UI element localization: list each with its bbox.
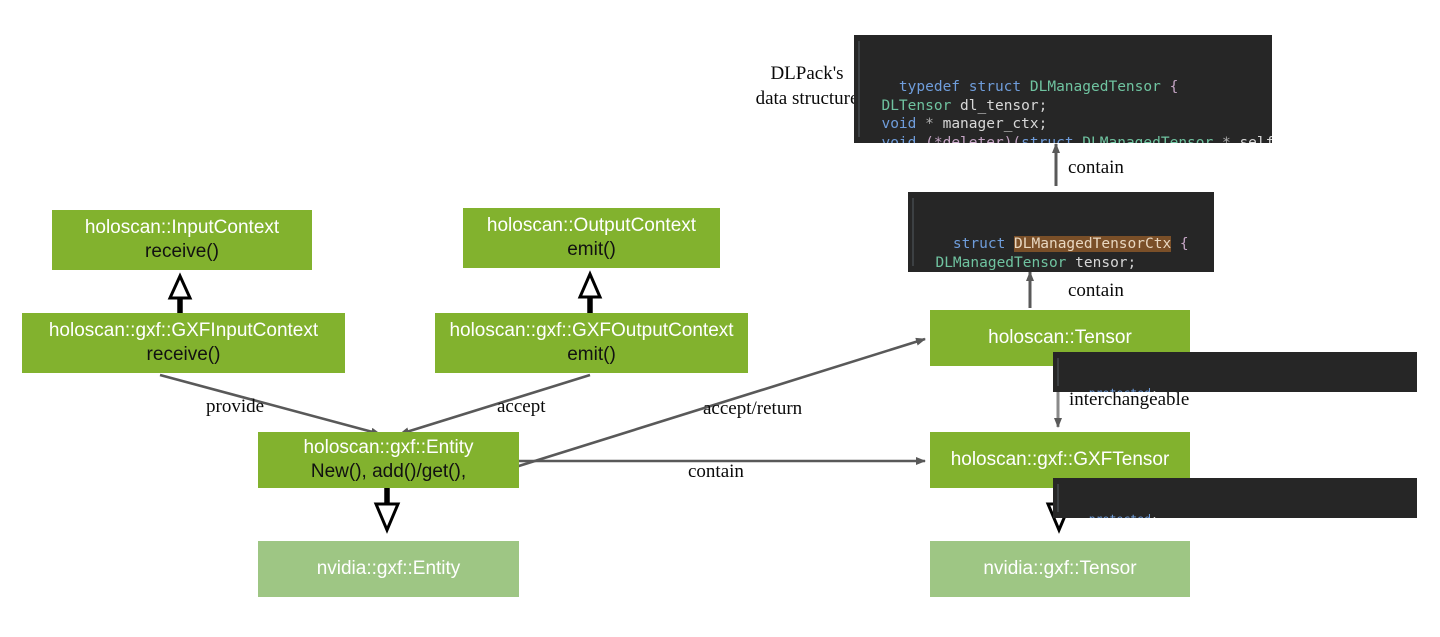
code-dlmanagedtensor-struct: typedef struct DLManagedTensor { DLTenso… xyxy=(854,35,1272,143)
inherit-gxfoutputcontext-outputcontext xyxy=(580,274,600,313)
diagram-canvas: holoscan::InputContext receive() holosca… xyxy=(0,0,1440,637)
code-gxftensor-protected-member: protected: std::shared_ptr<DLManagedTens… xyxy=(1053,478,1417,518)
edge-label-accept: accept xyxy=(497,396,546,418)
code-content: struct DLManagedTensorCtx { DLManagedTen… xyxy=(918,236,1214,272)
dlpack-data-structure-label: DLPack's data structure xyxy=(752,62,862,111)
edge-label-contain-entity-gxftensor: contain xyxy=(688,461,744,483)
edge-label-contain-mid: contain xyxy=(1068,280,1124,302)
code-gutter-bar xyxy=(912,198,914,266)
code-content: typedef struct DLManagedTensor { DLTenso… xyxy=(864,79,1272,143)
code-gutter-bar xyxy=(1057,358,1059,386)
edge-label-interchangeable: interchangeable xyxy=(1069,389,1189,411)
dlpack-label-line1: DLPack's xyxy=(752,62,862,87)
code-tensor-protected-member: protected: std::shared_ptr<DLManagedTens… xyxy=(1053,352,1417,392)
edge-label-provide: provide xyxy=(206,396,264,418)
code-gutter-bar xyxy=(1057,484,1059,512)
code-content: protected: std::shared_ptr<DLManagedTens… xyxy=(1061,386,1380,392)
code-content: protected: std::shared_ptr<DLManagedTens… xyxy=(1061,512,1380,518)
edge-label-contain-top: contain xyxy=(1068,157,1124,179)
edge-label-accept-return: accept/return xyxy=(703,398,802,420)
code-dlmanagedtensorctx-struct: struct DLManagedTensorCtx { DLManagedTen… xyxy=(908,192,1214,272)
inherit-gxfinputcontext-inputcontext xyxy=(170,276,190,313)
dlpack-label-line2: data structure xyxy=(752,87,862,112)
code-gutter-bar xyxy=(858,41,860,137)
inherit-entity-nvidia-entity xyxy=(376,488,398,530)
